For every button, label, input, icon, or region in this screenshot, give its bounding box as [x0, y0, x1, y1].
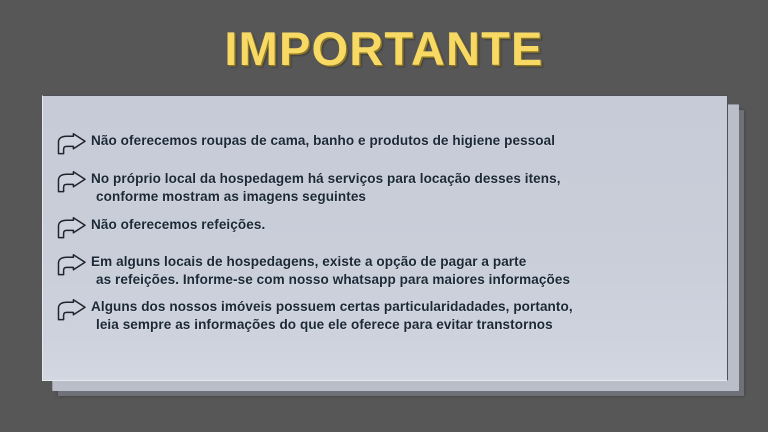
right-arrow-icon [54, 133, 88, 157]
list-item-text: Em alguns locais de hospedagens, existe … [91, 253, 724, 288]
list-item-text: No próprio local da hospedagem há serviç… [91, 170, 724, 205]
list-item-line-1: Não oferecemos refeições. [91, 217, 265, 232]
list-item-text: Alguns dos nossos imóveis possuem certas… [91, 298, 724, 333]
bullet-list: Não oferecemos roupas de cama, banho e p… [54, 132, 724, 333]
list-item: Não oferecemos roupas de cama, banho e p… [54, 132, 724, 157]
right-arrow-icon [54, 171, 88, 195]
right-arrow-icon [54, 217, 88, 241]
list-item-line-1: Não oferecemos roupas de cama, banho e p… [91, 133, 555, 148]
list-item-line-1: Em alguns locais de hospedagens, existe … [91, 254, 526, 269]
list-item-line-1: Alguns dos nossos imóveis possuem certas… [91, 299, 573, 314]
list-item: Alguns dos nossos imóveis possuem certas… [54, 298, 724, 333]
list-item-line-2: leia sempre as informações do que ele of… [96, 316, 724, 334]
list-item-line-2: conforme mostram as imagens seguintes [96, 188, 724, 206]
right-arrow-icon [54, 299, 88, 323]
list-item-line-1: No próprio local da hospedagem há serviç… [91, 171, 561, 186]
slide-canvas: IMPORTANTE Não oferecemos roupas de cama… [0, 0, 768, 432]
list-item: Em alguns locais de hospedagens, existe … [54, 253, 724, 288]
list-item-text: Não oferecemos roupas de cama, banho e p… [91, 132, 724, 150]
list-item-text: Não oferecemos refeições. [91, 216, 724, 234]
list-item: Não oferecemos refeições. [54, 216, 724, 241]
list-item: No próprio local da hospedagem há serviç… [54, 170, 724, 205]
page-title: IMPORTANTE [0, 25, 768, 72]
right-arrow-icon [54, 254, 88, 278]
list-item-line-2: as refeições. Informe-se com nosso whats… [96, 271, 724, 289]
